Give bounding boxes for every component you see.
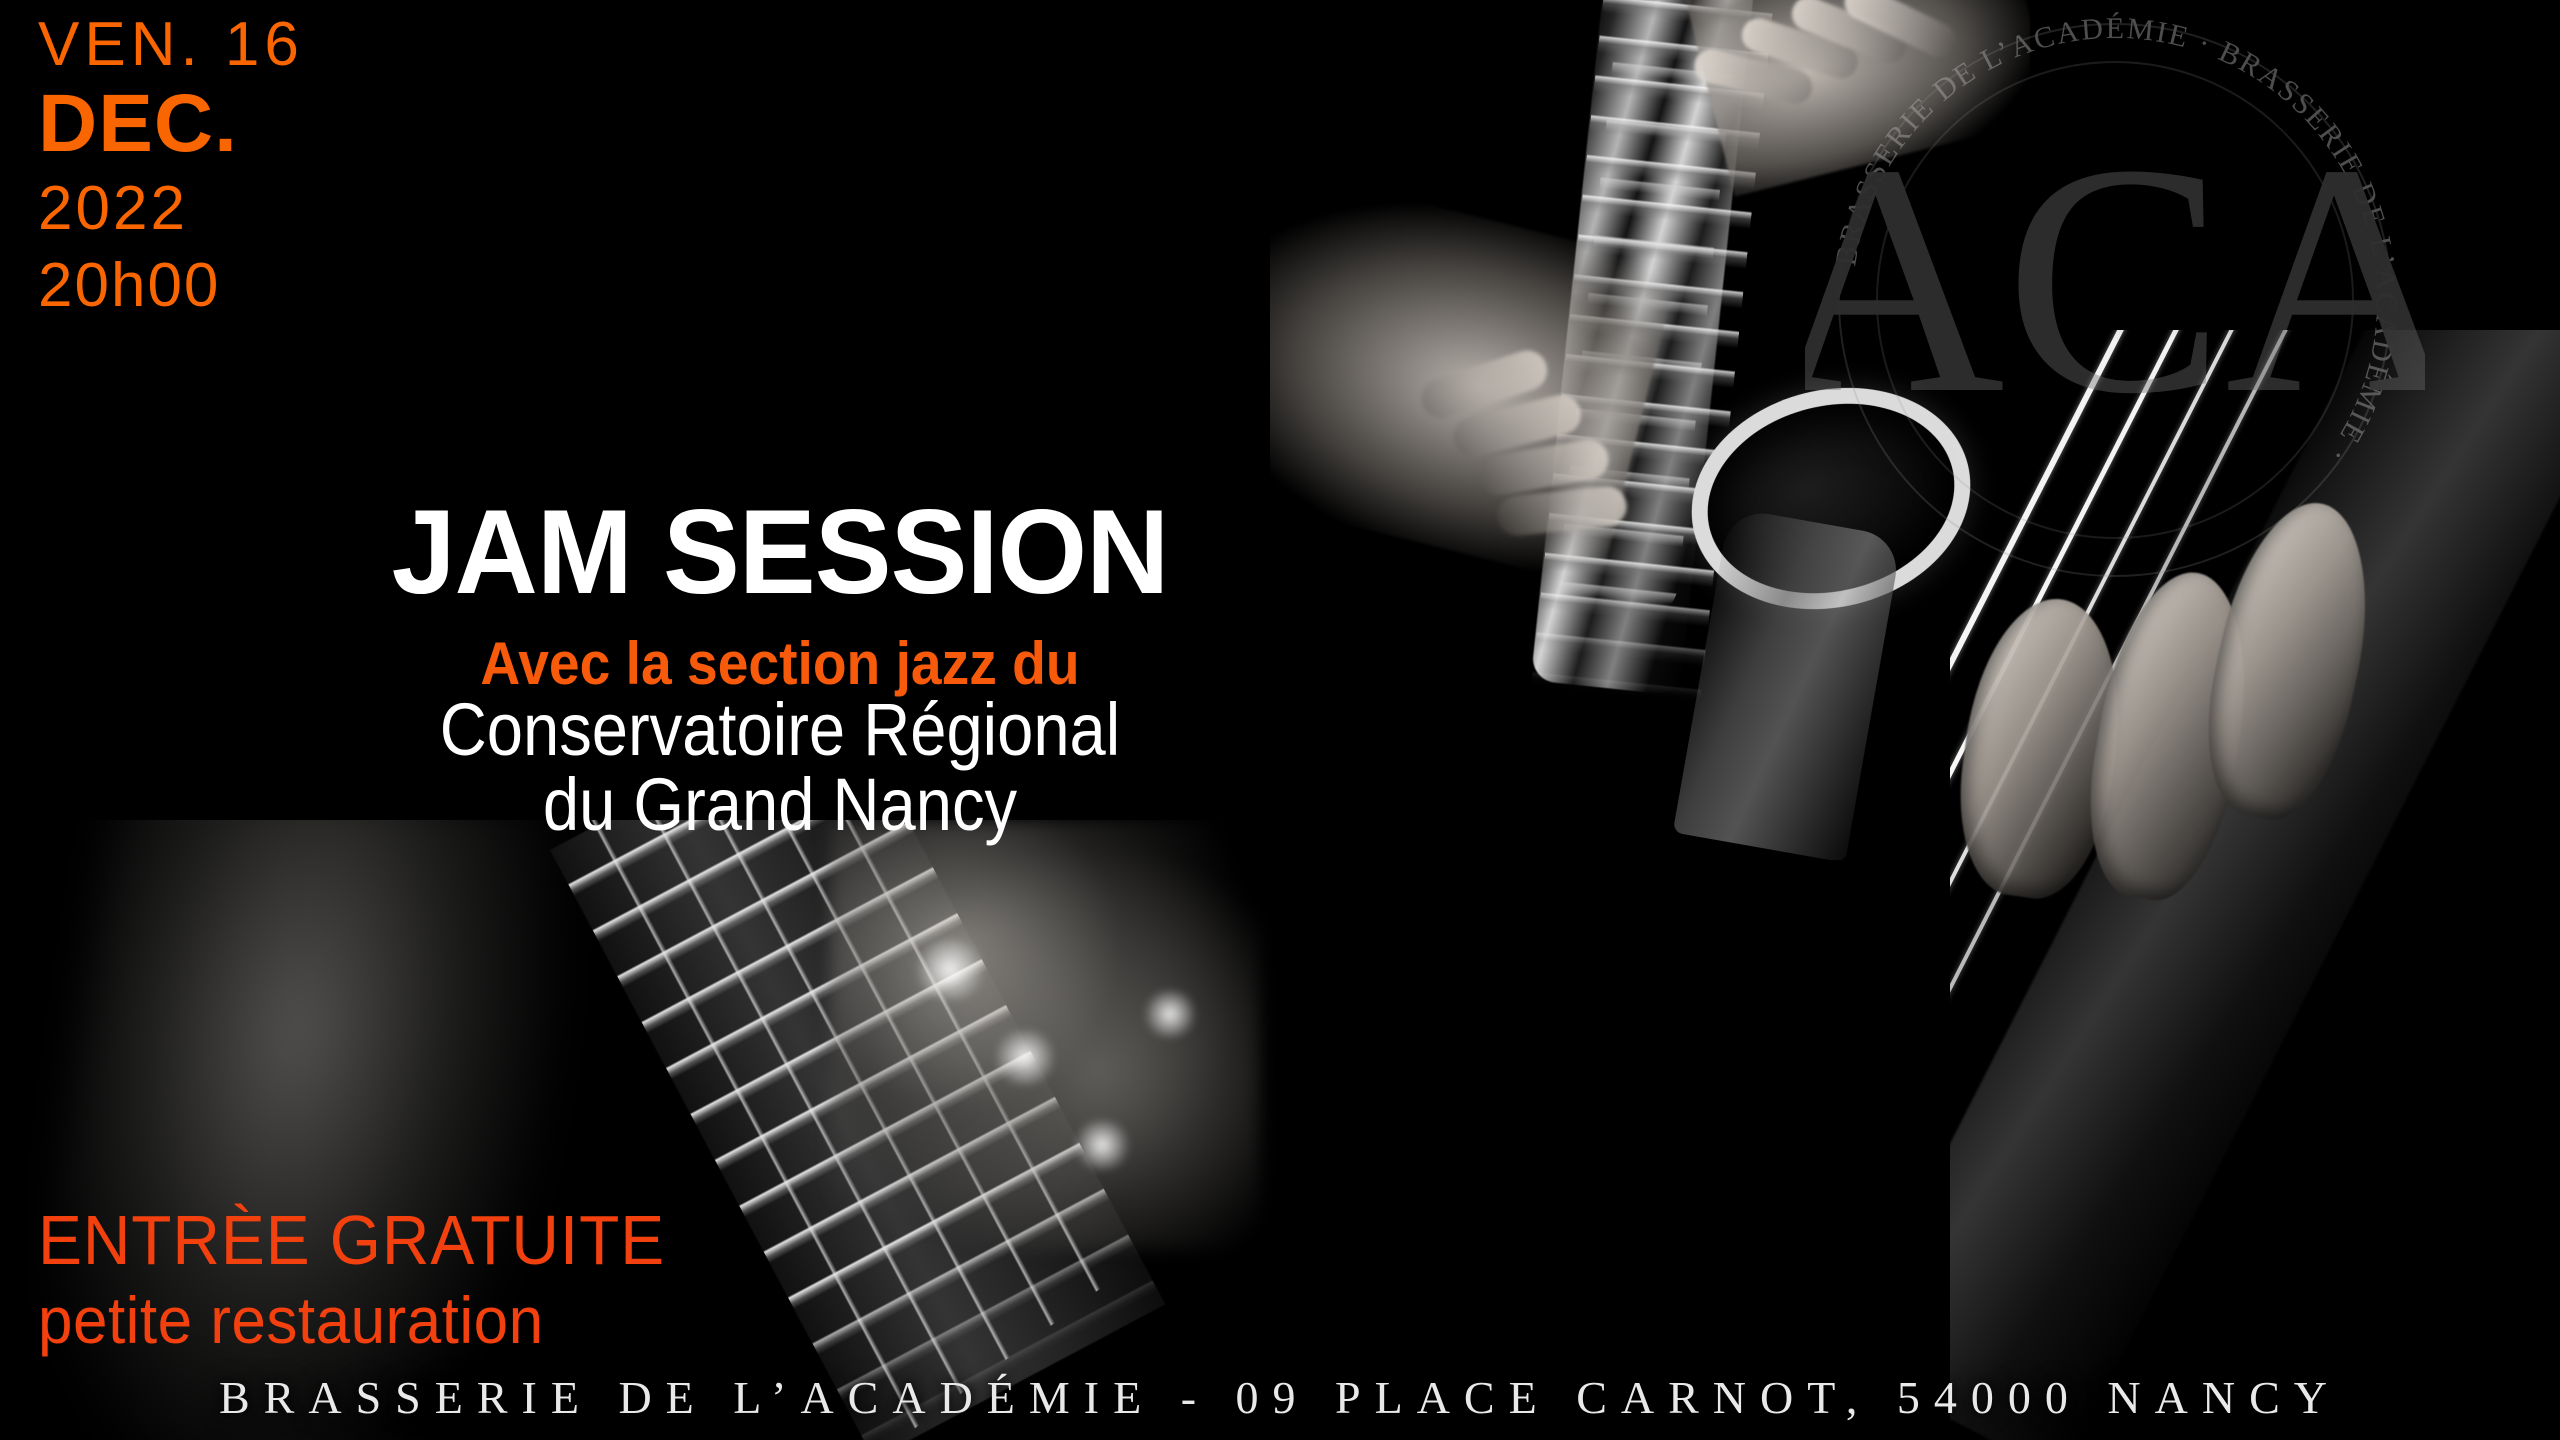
event-day: VEN. 16 bbox=[38, 10, 304, 79]
event-performer-line-2: du Grand Nancy bbox=[314, 767, 1247, 844]
admission-free-label: ENTRÈE GRATUITE bbox=[38, 1205, 665, 1275]
event-year: 2022 bbox=[38, 172, 304, 245]
admission-food-label: petite restauration bbox=[38, 1287, 665, 1353]
venue-address: BRASSERIE DE L’ACADÉMIE - 09 PLACE CARNO… bbox=[0, 1371, 2560, 1424]
event-poster: BRASSERIE DE L’ACADÉMIE · BRASSERIE DE L… bbox=[0, 0, 2560, 1440]
event-date-block: VEN. 16 DEC. 2022 20h00 bbox=[38, 10, 304, 322]
event-month: DEC. bbox=[38, 81, 304, 167]
admission-block: ENTRÈE GRATUITE petite restauration bbox=[38, 1205, 705, 1353]
event-performer-line-1: Conservatoire Régional bbox=[314, 692, 1247, 769]
event-title: JAM SESSION bbox=[271, 492, 1289, 612]
event-title-block: JAM SESSION Avec la section jazz du Cons… bbox=[250, 492, 1310, 844]
event-subtitle-highlight: Avec la section jazz du bbox=[292, 634, 1267, 694]
text-layer: VEN. 16 DEC. 2022 20h00 JAM SESSION Avec… bbox=[0, 0, 2560, 1440]
event-time: 20h00 bbox=[38, 249, 304, 322]
